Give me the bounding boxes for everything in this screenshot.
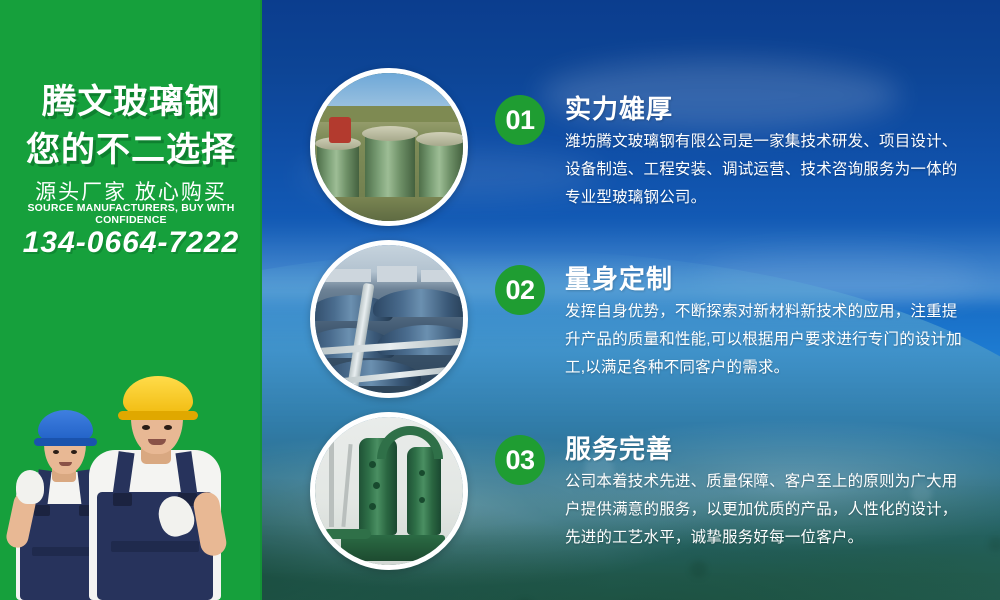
feature-body-1: 潍坊腾文玻璃钢有限公司是一家集技术研发、项目设计、设备制造、工程安装、调试运营、… xyxy=(565,128,970,212)
photo-industrial-dome-covers xyxy=(310,240,468,398)
photo-frp-storage-tanks xyxy=(310,68,468,226)
feature-heading-3: 服务完善 xyxy=(565,432,970,466)
brand-title-line1: 腾文玻璃钢 xyxy=(0,74,265,123)
feature-number-badge-1: 01 xyxy=(495,95,545,145)
brand-subtitle-en: SOURCE MANUFACTURERS, BUY WITH CONFIDENC… xyxy=(0,202,262,226)
worker-front xyxy=(85,372,225,600)
feature-number-badge-3: 03 xyxy=(495,435,545,485)
glove-thumbs-up xyxy=(16,470,44,504)
contact-phone-number[interactable]: 134-0664-7222 xyxy=(0,226,262,260)
feature-number-badge-2: 02 xyxy=(495,265,545,315)
feature-heading-1: 实力雄厚 xyxy=(565,92,970,126)
brand-title-line2: 您的不二选择 xyxy=(0,122,262,171)
promotional-banner: 腾文玻璃钢 您的不二选择 源头厂家 放心购买 SOURCE MANUFACTUR… xyxy=(0,0,1000,600)
workers-photo xyxy=(0,370,262,600)
feature-body-2: 发挥自身优势，不断探索对新材料新技术的应用，注重提升产品的质量和性能,可以根据用… xyxy=(565,298,970,382)
feature-heading-2: 量身定制 xyxy=(565,262,970,296)
feature-body-3: 公司本着技术先进、质量保障、客户至上的原则为广大用户提供满意的服务，以更加优质的… xyxy=(565,468,970,552)
photo-frp-scrubber-towers xyxy=(310,412,468,570)
